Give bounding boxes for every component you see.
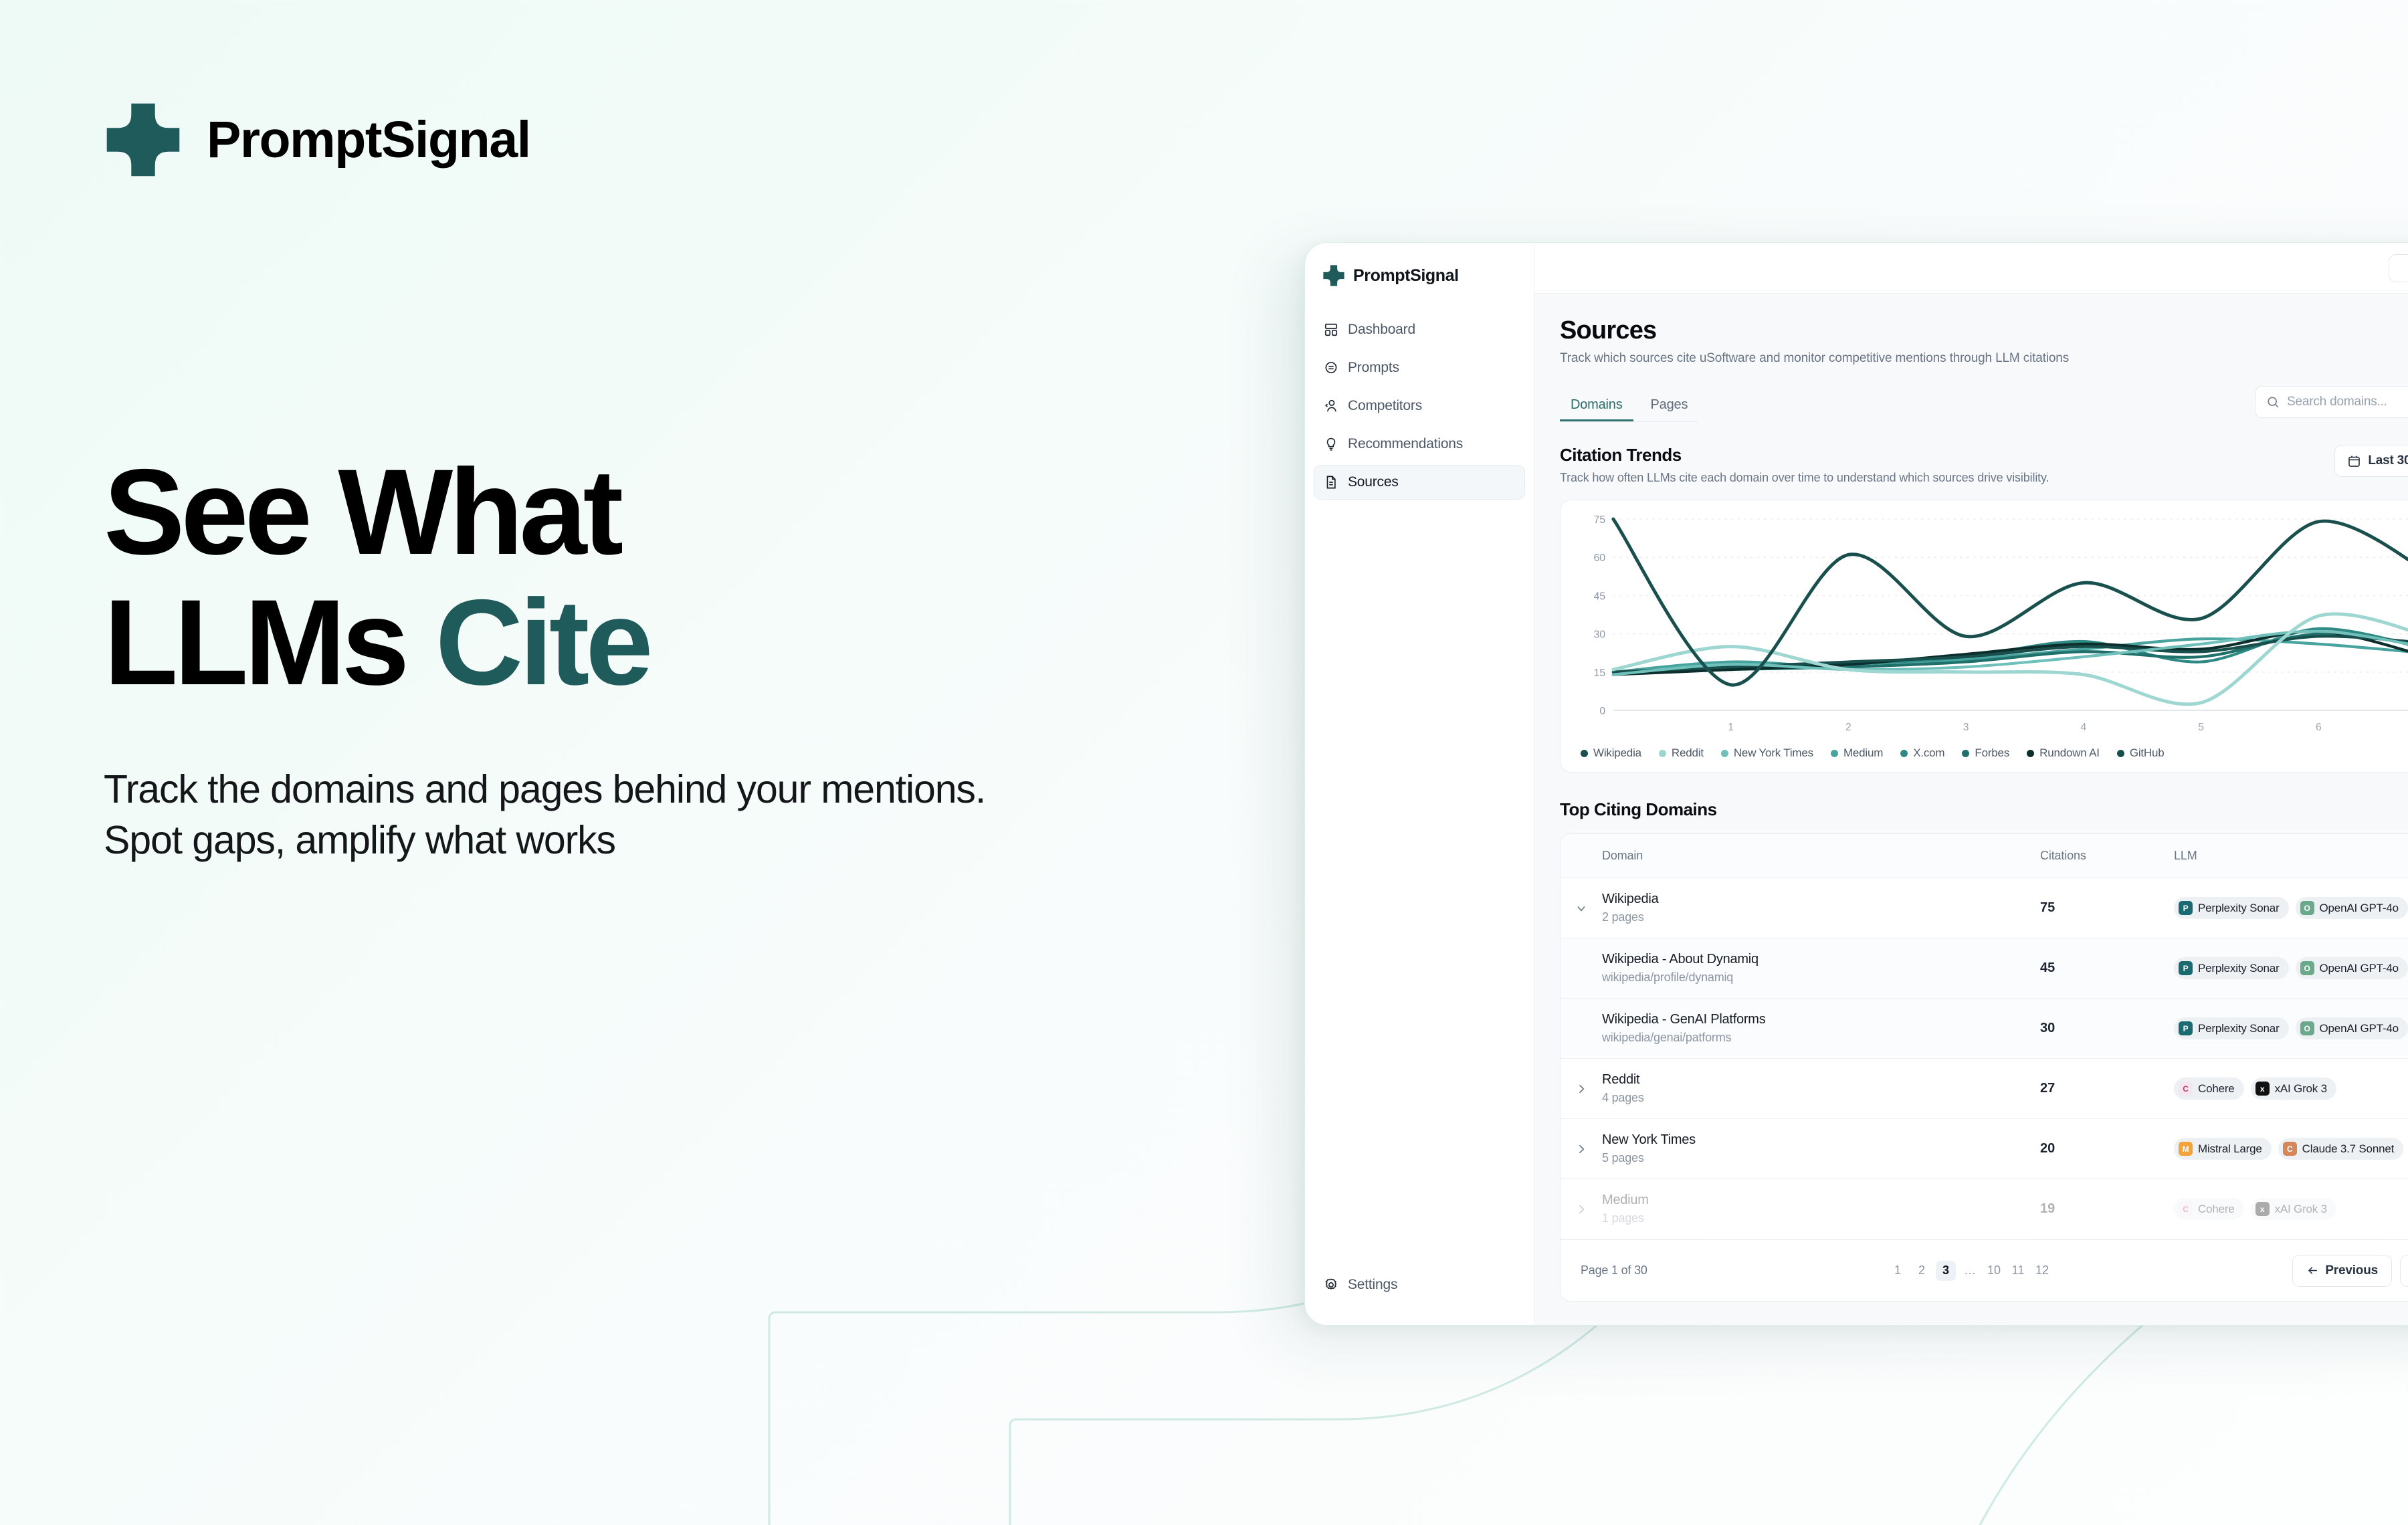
pagination-page-number[interactable]: 3: [1936, 1261, 1956, 1281]
llm-cell: MMistral LargeCClaude 3.7 Sonnet: [2174, 1138, 2408, 1160]
sidebar-item-competitors[interactable]: Competitors: [1314, 389, 1525, 423]
openai-icon: O: [2300, 961, 2314, 975]
file-text-icon: [1324, 475, 1338, 490]
llm-badge[interactable]: xxAI Grok 3: [2251, 1078, 2336, 1100]
dashboard-window: PromptSignal Dashboard Prompts Competito…: [1304, 242, 2408, 1326]
layout-dashboard-icon: [1324, 322, 1338, 337]
legend-label: New York Times: [1734, 746, 1813, 760]
citation-trends-chart-card: 01530456075123456 WikipediaRedditNew Yor…: [1560, 500, 2408, 773]
table-row[interactable]: Medium1 pages19CCoherexxAI Grok 3: [1561, 1179, 2408, 1239]
llm-badges: CCoherexxAI Grok 3: [2174, 1078, 2408, 1100]
llm-badge[interactable]: CCohere: [2174, 1078, 2244, 1100]
legend-color-dot: [1659, 750, 1666, 757]
llm-badge[interactable]: PPerplexity Sonar: [2174, 957, 2289, 979]
sidebar-spacer: [1305, 500, 1534, 1267]
arrow-left-icon: [2306, 1264, 2319, 1277]
pagination-page-number[interactable]: 10: [1984, 1261, 2004, 1281]
headline-line-2-plain: LLMs: [104, 574, 435, 710]
domain-cell: Wikipedia - About Dynamiqwikipedia/profi…: [1602, 952, 2040, 985]
table-header-row: Domain Citations LLM: [1561, 834, 2408, 878]
llm-badge-label: Perplexity Sonar: [2198, 962, 2280, 975]
legend-item[interactable]: GitHub: [2117, 746, 2165, 760]
citations-cell: 30: [2040, 1021, 2174, 1036]
llm-badge-label: Perplexity Sonar: [2198, 1022, 2280, 1035]
llm-badge-label: xAI Grok 3: [2275, 1082, 2327, 1096]
search-placeholder: Search domains...: [2287, 395, 2387, 409]
calendar-icon: [2347, 454, 2361, 468]
llm-badge-label: Mistral Large: [2198, 1142, 2262, 1156]
llm-badge[interactable]: OOpenAI GPT-4o: [2296, 957, 2408, 979]
sidebar-item-recommendations[interactable]: Recommendations: [1314, 427, 1525, 462]
xai-icon: x: [2255, 1082, 2270, 1096]
table-row[interactable]: Reddit4 pages27CCoherexxAI Grok 3: [1561, 1059, 2408, 1119]
svg-text:2: 2: [1845, 722, 1851, 733]
llm-badge-label: OpenAI GPT-4o: [2320, 902, 2399, 915]
domain-name: Wikipedia: [1602, 892, 2040, 907]
legend-label: Wikipedia: [1593, 746, 1641, 760]
sidebar-item-label: Sources: [1348, 474, 1399, 490]
main-content: Sources Track which sources cite uSoftwa…: [1534, 243, 2408, 1325]
domain-subtext: 4 pages: [1602, 1091, 2040, 1105]
svg-text:45: 45: [1594, 591, 1606, 602]
legend-label: Rundown AI: [2039, 746, 2100, 760]
domain-name: Wikipedia - About Dynamiq: [1602, 952, 2040, 967]
pagination-page-number[interactable]: 2: [1912, 1261, 1932, 1281]
domain-cell: Reddit4 pages: [1602, 1072, 2040, 1105]
legend-item[interactable]: New York Times: [1721, 746, 1813, 760]
legend-label: Reddit: [1672, 746, 1704, 760]
tabs-row: Domains Pages Search domains...: [1560, 386, 2408, 422]
search-domains-input[interactable]: Search domains...: [2255, 386, 2408, 418]
citations-value: 45: [2040, 960, 2055, 975]
legend-label: X.com: [1913, 746, 1944, 760]
pagination-page-number[interactable]: 1: [1888, 1261, 1908, 1281]
sidebar-brand-name: PromptSignal: [1353, 266, 1459, 286]
domain-cell: Wikipedia - GenAI Platformswikipedia/gen…: [1602, 1012, 2040, 1045]
openai-icon: O: [2300, 1021, 2314, 1035]
legend-color-dot: [2027, 750, 2034, 757]
pagination-buttons: Previous: [2292, 1255, 2408, 1287]
xai-icon: x: [2255, 1202, 2270, 1216]
llm-cell: CCoherexxAI Grok 3: [2174, 1078, 2408, 1100]
llm-badge-label: OpenAI GPT-4o: [2320, 1022, 2399, 1035]
pagination-page-number[interactable]: 11: [2008, 1261, 2028, 1281]
legend-item[interactable]: Rundown AI: [2027, 746, 2100, 760]
table-body: Wikipedia2 pages75PPerplexity SonarOOpen…: [1561, 878, 2408, 1239]
pagination-page-number[interactable]: 12: [2032, 1261, 2052, 1281]
citations-cell: 20: [2040, 1141, 2174, 1156]
message-circle-icon: [1324, 361, 1338, 375]
svg-text:15: 15: [1594, 668, 1606, 679]
table-row[interactable]: Wikipedia - GenAI Platformswikipedia/gen…: [1561, 999, 2408, 1059]
domain-subtext: wikipedia/profile/dynamiq: [1602, 971, 2040, 985]
column-header-domain: Domain: [1602, 849, 2040, 863]
legend-color-dot: [1721, 750, 1728, 757]
legend-item[interactable]: Reddit: [1659, 746, 1704, 760]
citations-value: 75: [2040, 900, 2055, 915]
page-header: Sources Track which sources cite uSoftwa…: [1534, 316, 2408, 422]
llm-badge[interactable]: xxAI Grok 3: [2251, 1198, 2336, 1220]
citations-cell: 75: [2040, 900, 2174, 916]
expand-collapse-chevron-right-icon[interactable]: [1561, 1142, 1602, 1156]
llm-badge[interactable]: PPerplexity Sonar: [2174, 1017, 2289, 1039]
top-citing-domains-title: Top Citing Domains: [1560, 799, 2408, 820]
tab-domains[interactable]: Domains: [1560, 391, 1633, 421]
table-row[interactable]: New York Times5 pages20MMistral LargeCCl…: [1561, 1119, 2408, 1179]
legend-item[interactable]: X.com: [1900, 746, 1944, 760]
citations-value: 27: [2040, 1081, 2055, 1096]
gear-icon: [1324, 1278, 1338, 1292]
legend-label: GitHub: [2130, 746, 2165, 760]
citation-trends-line-chart: 01530456075123456: [1575, 512, 2408, 740]
llm-badge[interactable]: MMistral Large: [2174, 1138, 2272, 1160]
page-subtitle: Track which sources cite uSoftware and m…: [1560, 351, 2408, 366]
sidebar-bottom: Settings: [1305, 1267, 1534, 1325]
citation-trends-subtitle: Track how often LLMs cite each domain ov…: [1560, 471, 2049, 485]
plus-cross-logo-icon: [104, 100, 183, 179]
openai-icon: O: [2300, 901, 2314, 915]
svg-text:6: 6: [2316, 722, 2322, 733]
llm-badge-label: Perplexity Sonar: [2198, 902, 2280, 915]
plus-cross-logo-icon: [1322, 264, 1345, 287]
citations-cell: 45: [2040, 960, 2174, 976]
sidebar-nav: Dashboard Prompts Competitors Recommenda…: [1305, 312, 1534, 500]
pagination-numbers: 123…101112: [1888, 1261, 2052, 1281]
citations-cell: 27: [2040, 1081, 2174, 1096]
citations-value: 19: [2040, 1201, 2055, 1216]
domain-cell: Wikipedia2 pages: [1602, 892, 2040, 924]
domain-name: Reddit: [1602, 1072, 2040, 1088]
svg-text:0: 0: [1599, 706, 1605, 717]
legend-color-dot: [2117, 750, 2124, 757]
expand-collapse-chevron-right-icon[interactable]: [1561, 1082, 1602, 1096]
tab-bar: Domains Pages: [1560, 391, 1698, 422]
citation-trends-title: Citation Trends: [1560, 445, 2049, 466]
llm-badges: MMistral LargeCClaude 3.7 Sonnet: [2174, 1138, 2408, 1160]
hero-section: PromptSignal See What LLMs Cite Track th…: [104, 100, 1147, 866]
llm-badge[interactable]: OOpenAI GPT-4o: [2296, 897, 2408, 919]
column-header-citations: Citations: [2040, 849, 2174, 863]
pagination-status: Page 1 of 30: [1581, 1263, 1647, 1278]
domain-subtext: 2 pages: [1602, 910, 2040, 924]
legend-color-dot: [1900, 750, 1908, 757]
top-citing-domains-section: Top Citing Domains Domain Citations LLM …: [1534, 799, 2408, 1302]
sidebar-item-label: Competitors: [1348, 398, 1422, 414]
llm-cell: PPerplexity SonarOOpenAI GPT-4o: [2174, 1017, 2408, 1039]
expand-collapse-chevron-down-icon[interactable]: [1561, 902, 1602, 915]
perplexity-icon: P: [2179, 961, 2193, 975]
llm-badge[interactable]: CCohere: [2174, 1198, 2244, 1220]
llm-cell: PPerplexity SonarOOpenAI GPT-4o: [2174, 897, 2408, 919]
llm-badge-label: Cohere: [2198, 1082, 2235, 1096]
domain-name: Medium: [1602, 1193, 2040, 1208]
legend-color-dot: [1581, 750, 1588, 757]
sidebar-item-sources[interactable]: Sources: [1314, 465, 1525, 500]
topbar-action-placeholder[interactable]: [2389, 254, 2408, 282]
llm-badge[interactable]: OOpenAI GPT-4o: [2296, 1017, 2408, 1039]
column-header-llm: LLM: [2174, 849, 2408, 863]
svg-text:1: 1: [1728, 722, 1734, 733]
tab-pages[interactable]: Pages: [1640, 391, 1699, 421]
llm-badges: PPerplexity SonarOOpenAI GPT-4o: [2174, 957, 2408, 979]
page-title: Sources: [1560, 316, 2408, 345]
legend-item[interactable]: Medium: [1831, 746, 1883, 760]
domain-cell: Medium1 pages: [1602, 1193, 2040, 1225]
sidebar-brand: PromptSignal: [1305, 264, 1534, 287]
previous-label: Previous: [2325, 1263, 2378, 1278]
table-pagination: Page 1 of 30 123…101112 Previous: [1560, 1240, 2408, 1302]
domain-name: New York Times: [1602, 1132, 2040, 1148]
main-scroll-area[interactable]: Sources Track which sources cite uSoftwa…: [1534, 294, 2408, 1325]
cohere-icon: C: [2179, 1082, 2193, 1096]
sidebar-item-label: Recommendations: [1348, 436, 1463, 452]
llm-badges: CCoherexxAI Grok 3: [2174, 1198, 2408, 1220]
date-range-label: Last 30 days: [2368, 453, 2408, 468]
legend-color-dot: [1962, 750, 1969, 757]
citations-value: 20: [2040, 1141, 2055, 1156]
svg-text:30: 30: [1594, 629, 1606, 640]
svg-text:3: 3: [1963, 722, 1969, 733]
llm-badge-label: xAI Grok 3: [2275, 1203, 2327, 1216]
sidebar: PromptSignal Dashboard Prompts Competito…: [1305, 243, 1534, 1325]
sidebar-item-label: Dashboard: [1348, 322, 1415, 338]
llm-badge[interactable]: CClaude 3.7 Sonnet: [2278, 1138, 2403, 1160]
llm-badge-label: OpenAI GPT-4o: [2320, 962, 2399, 975]
chart-legend: WikipediaRedditNew York TimesMediumX.com…: [1575, 740, 2408, 762]
domain-subtext: 1 pages: [1602, 1211, 2040, 1225]
citations-cell: 19: [2040, 1201, 2174, 1217]
sidebar-item-prompts[interactable]: Prompts: [1314, 350, 1525, 385]
legend-item[interactable]: Wikipedia: [1581, 746, 1641, 760]
domain-cell: New York Times5 pages: [1602, 1132, 2040, 1165]
topbar: [1534, 243, 2408, 294]
llm-badges: PPerplexity SonarOOpenAI GPT-4o: [2174, 1017, 2408, 1039]
llm-badges: PPerplexity SonarOOpenAI GPT-4o: [2174, 897, 2408, 919]
citation-trends-header: Citation Trends Track how often LLMs cit…: [1560, 445, 2408, 485]
citations-value: 30: [2040, 1021, 2055, 1035]
expand-collapse-chevron-right-icon[interactable]: [1561, 1203, 1602, 1216]
users-icon: [1324, 399, 1338, 413]
domains-table: Domain Citations LLM Wikipedia2 pages75P…: [1560, 833, 2408, 1240]
pagination-ellipsis: …: [1960, 1261, 1980, 1281]
legend-color-dot: [1831, 750, 1838, 757]
sidebar-item-settings[interactable]: Settings: [1314, 1267, 1525, 1302]
svg-text:75: 75: [1594, 514, 1606, 526]
perplexity-icon: P: [2179, 901, 2193, 915]
perplexity-icon: P: [2179, 1021, 2193, 1035]
citation-trends-section: Citation Trends Track how often LLMs cit…: [1534, 445, 2408, 773]
brand-name: PromptSignal: [207, 114, 530, 166]
domain-name: Wikipedia - GenAI Platforms: [1602, 1012, 2040, 1027]
legend-label: Medium: [1843, 746, 1883, 760]
lightbulb-icon: [1324, 437, 1338, 451]
headline-line-1: See What: [104, 443, 619, 580]
citation-trends-titles: Citation Trends Track how often LLMs cit…: [1560, 445, 2049, 485]
llm-badge-label: Cohere: [2198, 1203, 2235, 1216]
domain-subtext: 5 pages: [1602, 1151, 2040, 1165]
table-row[interactable]: Wikipedia2 pages75PPerplexity SonarOOpen…: [1561, 878, 2408, 938]
llm-cell: CCoherexxAI Grok 3: [2174, 1198, 2408, 1220]
date-range-button[interactable]: Last 30 days: [2334, 445, 2408, 477]
cohere-icon: C: [2179, 1202, 2193, 1216]
brand-lockup: PromptSignal: [104, 100, 1147, 179]
sidebar-item-label: Prompts: [1348, 360, 1399, 376]
headline-line-2-accent: Cite: [435, 574, 649, 710]
svg-text:4: 4: [2080, 722, 2086, 733]
domain-subtext: wikipedia/genai/patforms: [1602, 1031, 2040, 1045]
svg-text:5: 5: [2198, 722, 2204, 733]
sidebar-item-dashboard[interactable]: Dashboard: [1314, 312, 1525, 347]
legend-label: Forbes: [1975, 746, 2009, 760]
search-icon: [2266, 395, 2280, 409]
sidebar-item-label: Settings: [1348, 1277, 1397, 1293]
llm-cell: PPerplexity SonarOOpenAI GPT-4o: [2174, 957, 2408, 979]
mistral-icon: M: [2179, 1142, 2193, 1156]
svg-text:60: 60: [1594, 552, 1606, 564]
llm-badge-label: Claude 3.7 Sonnet: [2302, 1142, 2394, 1156]
next-page-button[interactable]: [2400, 1255, 2408, 1287]
hero-subheadline: Track the domains and pages behind your …: [104, 765, 1040, 866]
claude-icon: C: [2283, 1142, 2297, 1156]
page-headline: See What LLMs Cite: [104, 447, 1147, 707]
llm-badge[interactable]: PPerplexity Sonar: [2174, 897, 2289, 919]
previous-page-button[interactable]: Previous: [2292, 1255, 2392, 1287]
table-row[interactable]: Wikipedia - About Dynamiqwikipedia/profi…: [1561, 938, 2408, 999]
legend-item[interactable]: Forbes: [1962, 746, 2009, 760]
